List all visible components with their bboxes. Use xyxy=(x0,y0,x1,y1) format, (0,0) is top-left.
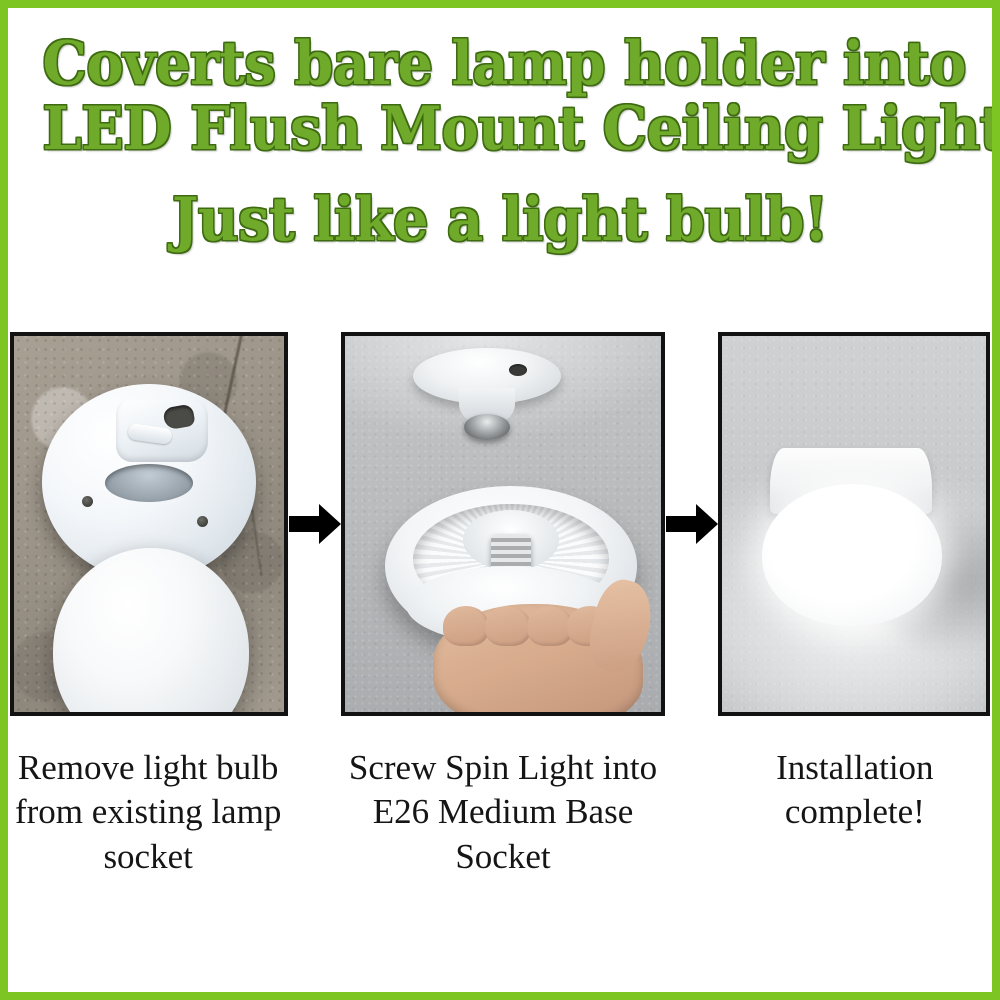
arrow-right-icon xyxy=(666,502,718,546)
finger-2 xyxy=(485,606,531,646)
step-3 xyxy=(718,332,990,716)
headline-block: Coverts bare lamp holder into LED Flush … xyxy=(8,8,992,252)
arrow-right-icon xyxy=(289,502,341,546)
headline-line-2: LED Flush Mount Ceiling Light xyxy=(42,99,957,160)
product-infographic-poster: Coverts bare lamp holder into LED Flush … xyxy=(0,0,1000,1000)
lamp-socket-neck xyxy=(105,464,193,502)
arrow-gap-1 xyxy=(288,332,341,716)
pull-switch-slot xyxy=(162,404,195,431)
socket-screw-hole xyxy=(509,364,527,376)
step-2-photo xyxy=(341,332,665,716)
step-1 xyxy=(10,332,288,716)
captions-row: Remove light bulb from existing lamp soc… xyxy=(8,746,992,879)
switch-lever xyxy=(127,423,173,445)
headline-line-3: Just like a light bulb! xyxy=(42,190,957,251)
headline-line-1: Coverts bare lamp holder into xyxy=(42,34,957,95)
step-1-photo xyxy=(10,332,288,716)
step-1-caption: Remove light bulb from existing lamp soc… xyxy=(10,746,286,879)
step-2 xyxy=(341,332,665,716)
mounting-screw-right xyxy=(197,516,208,527)
arrow-gap-2 xyxy=(665,332,718,716)
hand-holding-fixture xyxy=(433,604,643,716)
installed-fixture-lens xyxy=(762,484,942,626)
lamp-holder-switch-knob xyxy=(116,398,208,462)
mounting-screw-left xyxy=(82,496,93,507)
step-3-caption: Installation complete! xyxy=(720,746,990,835)
step-3-photo xyxy=(718,332,990,716)
step-2-caption: Screw Spin Light into E26 Medium Base So… xyxy=(342,746,664,879)
finger-1 xyxy=(443,606,489,646)
steps-strip xyxy=(8,332,992,732)
socket-e26-threads xyxy=(464,414,510,440)
